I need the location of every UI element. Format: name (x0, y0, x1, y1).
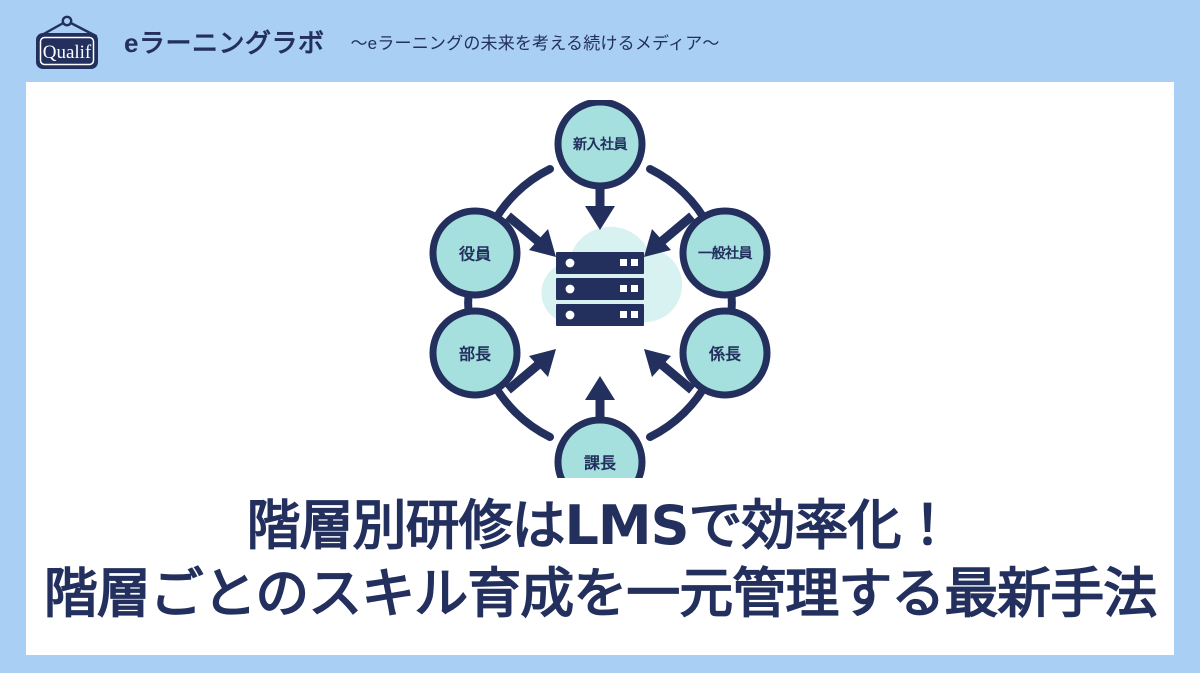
node-label-yakuin: 役員 (458, 245, 491, 264)
node-label-shinnyu-shain: 新入社員 (572, 136, 627, 153)
server-racks (556, 252, 644, 326)
page-root: Qualif eラーニングラボ 〜eラーニングの未来を考える続けるメディア〜 (0, 0, 1200, 673)
node-label-buchou: 部長 (459, 345, 492, 364)
node-label-ippan-shain: 一般社員 (698, 245, 752, 262)
logo-wordmark: Qualif (43, 42, 92, 63)
headline: 階層別研修はLMSで効率化！ 階層ごとのスキル育成を一元管理する最新手法 (26, 494, 1174, 625)
brand-name: eラーニングラボ (124, 23, 324, 60)
qualif-logo[interactable]: Qualif (26, 14, 110, 72)
node-label-kakarichou: 係長 (708, 345, 742, 364)
node-shinnyu-shain[interactable]: 新入社員 (558, 102, 642, 186)
headline-line-2: 階層ごとのスキル育成を一元管理する最新手法 (26, 562, 1174, 626)
node-kachou[interactable]: 課長 (558, 420, 642, 478)
headline-line-1: 階層別研修はLMSで効率化！ (26, 494, 1174, 558)
brand-tagline: 〜eラーニングの未来を考える続けるメディア〜 (350, 29, 719, 54)
node-label-kachou: 課長 (584, 454, 617, 473)
content-card: 新入社員 一般社員 係長 課長 部長 (26, 82, 1174, 655)
node-buchou[interactable]: 部長 (433, 311, 517, 395)
node-yakuin[interactable]: 役員 (433, 211, 517, 295)
site-header: Qualif eラーニングラボ 〜eラーニングの未来を考える続けるメディア〜 (0, 0, 1200, 82)
logo-hook-icon (63, 17, 71, 25)
node-kakarichou[interactable]: 係長 (683, 311, 767, 395)
hierarchy-cycle-diagram: 新入社員 一般社員 係長 課長 部長 (410, 100, 790, 478)
node-ippan-shain[interactable]: 一般社員 (683, 211, 767, 295)
